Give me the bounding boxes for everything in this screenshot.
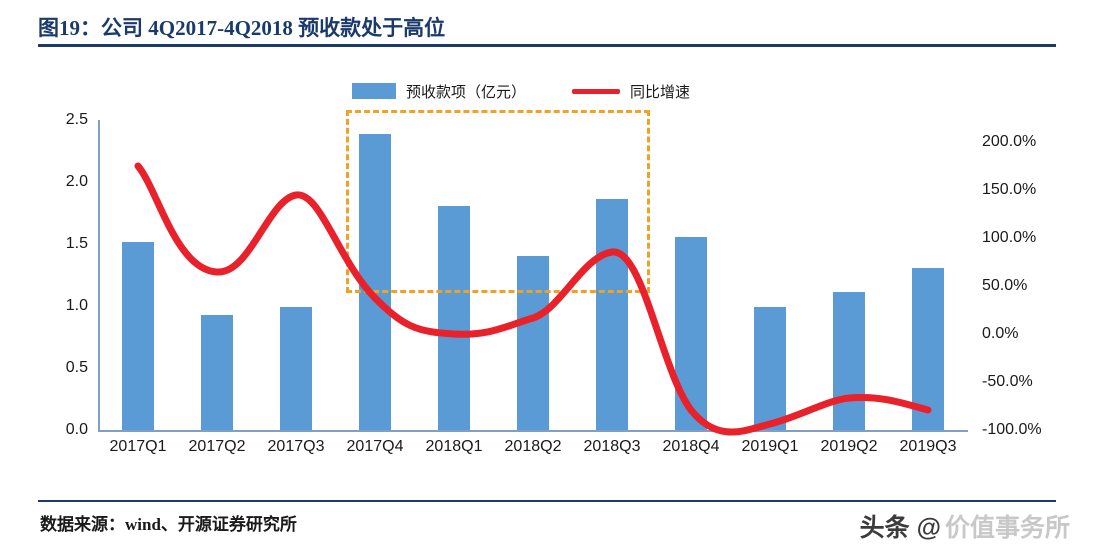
page-title: 公司 4Q2017-4Q2018 预收款处于高位 <box>101 12 445 42</box>
growth-line-series <box>98 120 968 432</box>
y-tick-left-4: 2.0 <box>66 173 88 191</box>
watermark: 头条 @ 价值事务所 <box>860 508 1070 544</box>
y-tick-right-5: 150.0% <box>982 181 1036 199</box>
y-tick-left-2: 1.0 <box>66 297 88 315</box>
chart-legend: 预收款项（亿元） 同比增速 <box>352 76 772 106</box>
y-tick-right-3: 50.0% <box>982 277 1027 295</box>
footer-divider <box>38 500 1056 502</box>
growth-line-path <box>138 166 928 432</box>
legend-swatch-bar-icon <box>352 83 396 99</box>
y-tick-right-4: 100.0% <box>982 229 1036 247</box>
y-tick-right-1: -50.0% <box>982 373 1033 391</box>
y-tick-right-6: 200.0% <box>982 133 1036 151</box>
y-tick-right-0: -100.0% <box>982 421 1042 439</box>
figure-title-bar: 图19： 公司 4Q2017-4Q2018 预收款处于高位 <box>38 10 1056 44</box>
x-tick-10: 2019Q3 <box>900 438 957 456</box>
chart-plot-area: 0.0 0.5 1.0 1.5 2.0 2.5 -100.0% -50.0% 0… <box>98 120 968 432</box>
x-tick-4: 2018Q1 <box>426 438 483 456</box>
figure-number: 图19： <box>38 12 101 42</box>
header-divider <box>38 44 1056 47</box>
y-tick-left-5: 2.5 <box>66 111 88 129</box>
legend-label-line: 同比增速 <box>630 81 690 102</box>
y-tick-left-0: 0.0 <box>66 421 88 439</box>
legend-swatch-line-icon <box>572 89 620 94</box>
watermark-right-text: 价值事务所 <box>945 508 1070 544</box>
x-tick-2: 2017Q3 <box>268 438 325 456</box>
x-tick-5: 2018Q2 <box>505 438 562 456</box>
x-tick-3: 2017Q4 <box>347 438 404 456</box>
x-tick-0: 2017Q1 <box>110 438 167 456</box>
x-tick-6: 2018Q3 <box>584 438 641 456</box>
x-tick-8: 2019Q1 <box>742 438 799 456</box>
legend-label-bar: 预收款项（亿元） <box>406 81 526 102</box>
source-note: 数据来源：wind、开源证券研究所 <box>40 510 297 535</box>
x-tick-7: 2018Q4 <box>663 438 720 456</box>
y-tick-right-2: 0.0% <box>982 325 1018 343</box>
x-tick-9: 2019Q2 <box>821 438 878 456</box>
x-tick-1: 2017Q2 <box>189 438 246 456</box>
y-tick-left-3: 1.5 <box>66 235 88 253</box>
watermark-left-text: 头条 @ <box>860 508 941 544</box>
y-tick-left-1: 0.5 <box>66 359 88 377</box>
